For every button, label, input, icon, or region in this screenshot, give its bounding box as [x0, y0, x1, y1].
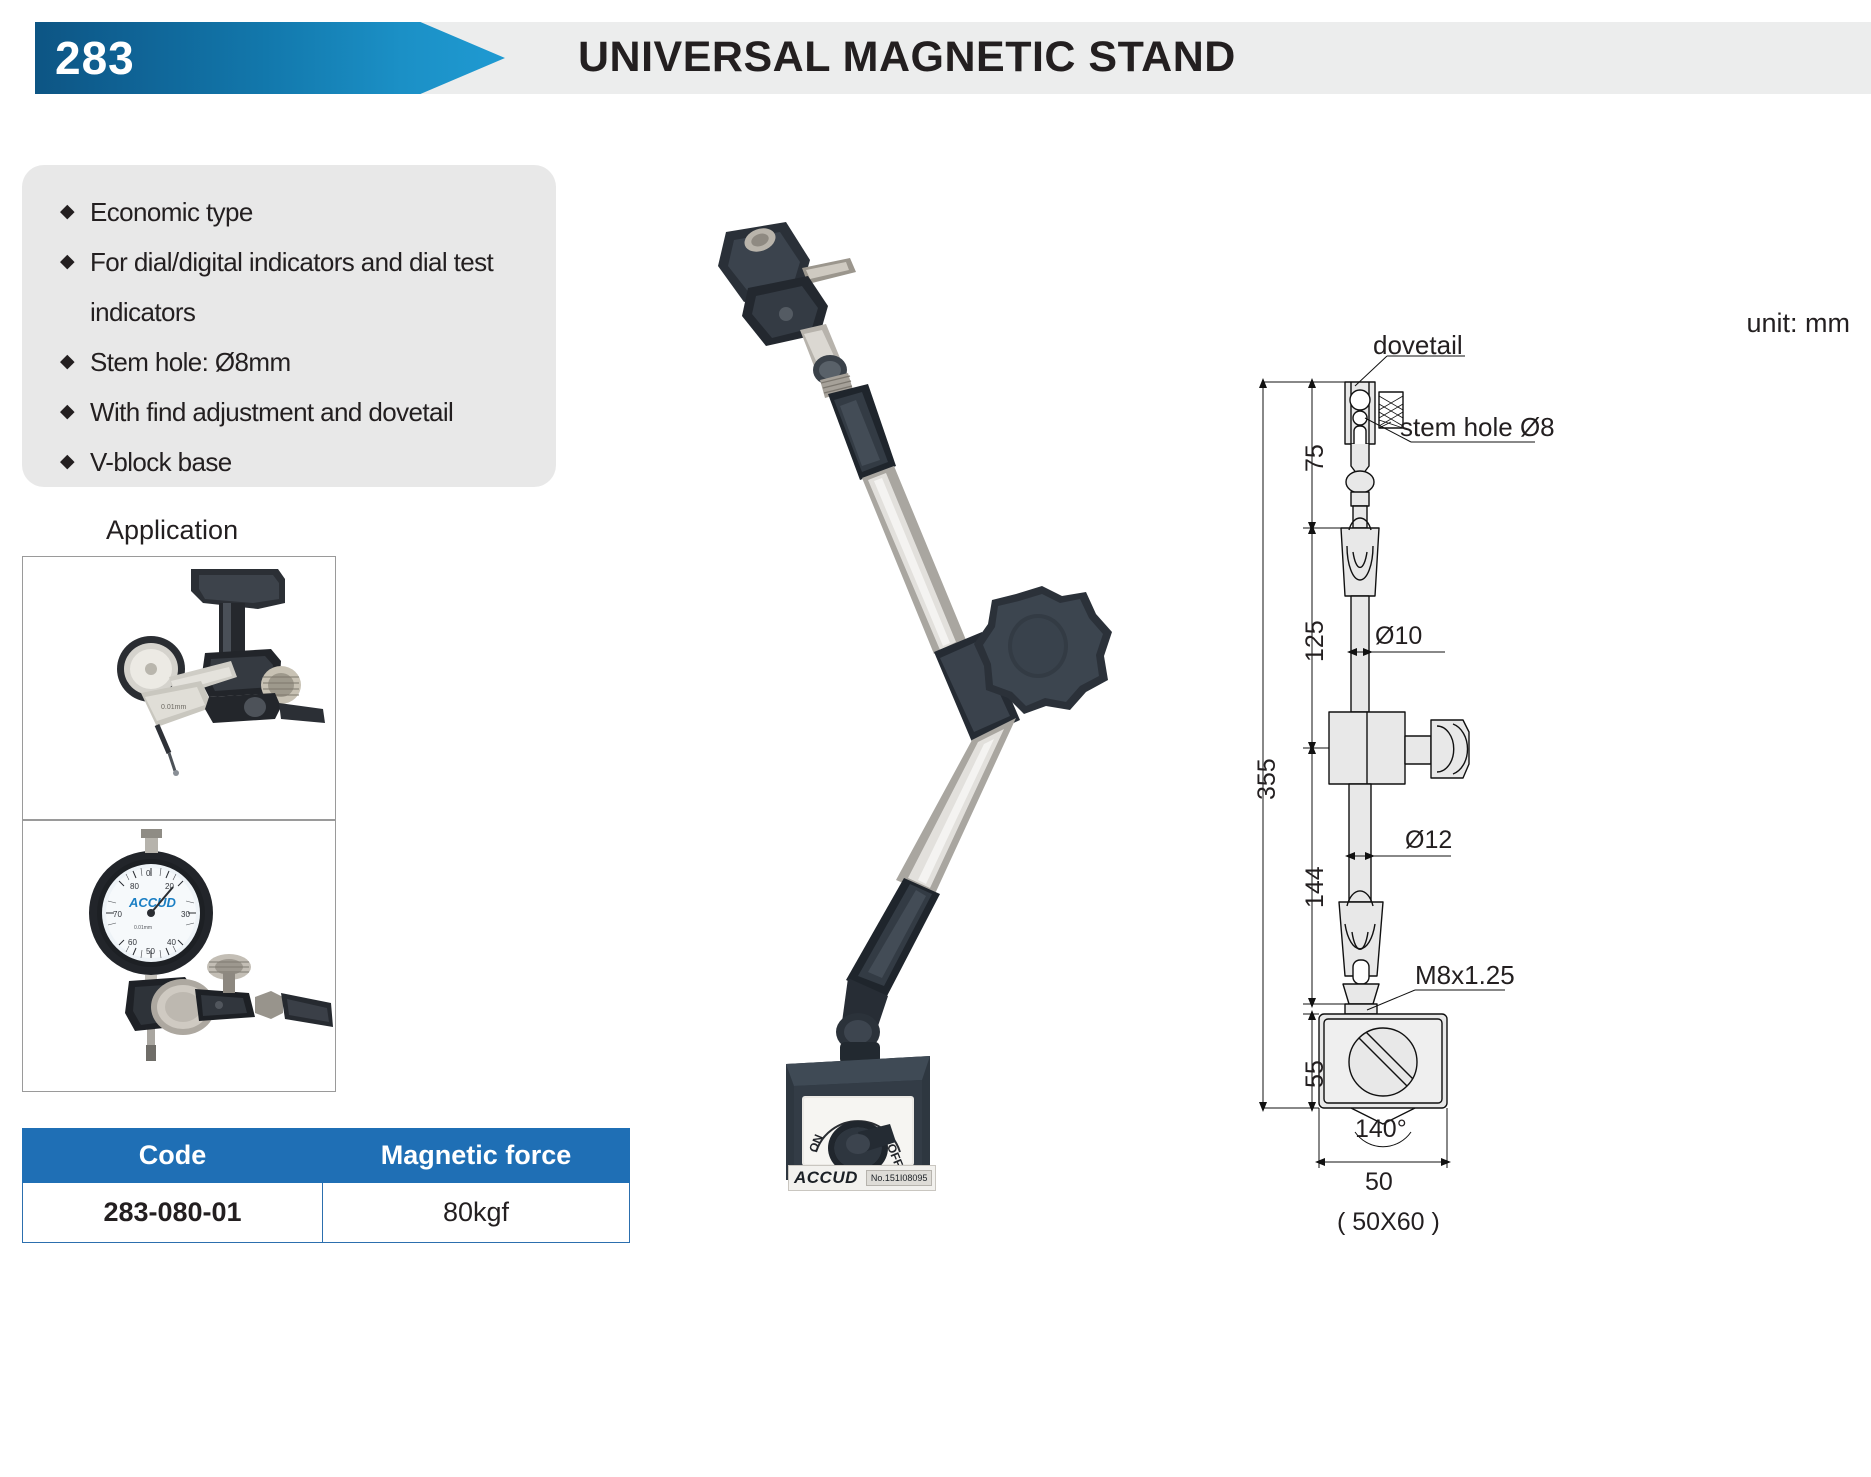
brand-logo: ACCUD: [794, 1168, 858, 1188]
feature-text: Economic type: [90, 187, 540, 237]
application-heading: Application: [106, 515, 238, 546]
table-header-row: Code Magnetic force: [23, 1129, 630, 1183]
diamond-bullet-icon: ◆: [60, 437, 90, 487]
technical-drawing: unit: mm: [1215, 300, 1865, 1330]
dimension-base-note: ( 50X60 ): [1337, 1208, 1440, 1237]
list-item: ◆ With find adjustment and dovetail: [60, 387, 540, 437]
list-item: ◆ For dial/digital indicators and dial t…: [60, 237, 540, 337]
svg-text:80: 80: [130, 882, 139, 891]
dimension-dia-12: Ø12: [1405, 826, 1452, 855]
svg-text:30: 30: [181, 910, 190, 919]
dimension-base-width: 50: [1365, 1168, 1393, 1197]
column-header-code: Code: [23, 1129, 323, 1183]
page-number: 283: [55, 22, 135, 94]
list-item: ◆ Economic type: [60, 187, 540, 237]
dimension-125: 125: [1301, 620, 1330, 662]
svg-text:0: 0: [146, 869, 151, 878]
feature-text: With find adjustment and dovetail: [90, 387, 540, 437]
callout-thread: M8x1.25: [1415, 960, 1515, 991]
list-item: ◆ Stem hole: Ø8mm: [60, 337, 540, 387]
diamond-bullet-icon: ◆: [60, 237, 90, 287]
callout-dovetail: dovetail: [1373, 330, 1463, 361]
dimension-dia-10: Ø10: [1375, 622, 1422, 651]
feature-text: Stem hole: Ø8mm: [90, 337, 540, 387]
callout-stem-hole: stem hole Ø8: [1400, 412, 1555, 443]
svg-text:0.01mm: 0.01mm: [161, 704, 186, 711]
page-title: UNIVERSAL MAGNETIC STAND: [578, 22, 1236, 94]
magnetic-base: ON OFF: [786, 1056, 930, 1180]
application-photo-dial-test-indicator: 0.01mm: [22, 556, 336, 820]
svg-text:ACCUD: ACCUD: [128, 895, 177, 910]
application-photo-dial-indicator: 80 20 70 30 60 40 50 0 ACCUD 0.01mm: [22, 820, 336, 1092]
features-list: ◆ Economic type ◆ For dial/digital indic…: [60, 187, 540, 487]
dimension-75: 75: [1301, 444, 1330, 472]
cell-code: 283-080-01: [23, 1183, 323, 1243]
feature-text: V-block base: [90, 437, 540, 487]
diamond-bullet-icon: ◆: [60, 337, 90, 387]
serial-number: No.151I08095: [866, 1170, 933, 1186]
product-image: ON OFF: [690, 180, 1210, 1180]
dimension-angle: 140°: [1355, 1115, 1407, 1144]
cell-magnetic-force: 80kgf: [323, 1183, 630, 1243]
svg-text:50: 50: [146, 947, 155, 956]
table-row: 283-080-01 80kgf: [23, 1183, 630, 1243]
page-header: 283 UNIVERSAL MAGNETIC STAND: [0, 22, 1871, 94]
specification-table: Code Magnetic force 283-080-01 80kgf: [22, 1128, 630, 1243]
diamond-bullet-icon: ◆: [60, 387, 90, 437]
unit-label: unit: mm: [1746, 308, 1850, 339]
application-image-2: 80 20 70 30 60 40 50 0 ACCUD 0.01mm: [23, 821, 335, 1091]
base-brand-strip: ACCUD No.151I08095: [788, 1165, 936, 1191]
dimension-overall: 355: [1253, 758, 1282, 800]
dimension-55: 55: [1301, 1060, 1330, 1088]
diamond-bullet-icon: ◆: [60, 187, 90, 237]
svg-text:60: 60: [128, 938, 137, 947]
product-photo: ON OFF ACCUD No.151I08095: [690, 180, 1210, 1180]
feature-text: For dial/digital indicators and dial tes…: [90, 237, 540, 337]
list-item: ◆ V-block base: [60, 437, 540, 487]
dimension-144: 144: [1301, 866, 1330, 908]
svg-text:70: 70: [113, 910, 122, 919]
svg-text:40: 40: [167, 938, 176, 947]
svg-text:0.01mm: 0.01mm: [134, 925, 152, 931]
features-panel: ◆ Economic type ◆ For dial/digital indic…: [22, 165, 556, 487]
application-image-1: 0.01mm: [23, 557, 335, 819]
column-header-magnetic-force: Magnetic force: [323, 1129, 630, 1183]
